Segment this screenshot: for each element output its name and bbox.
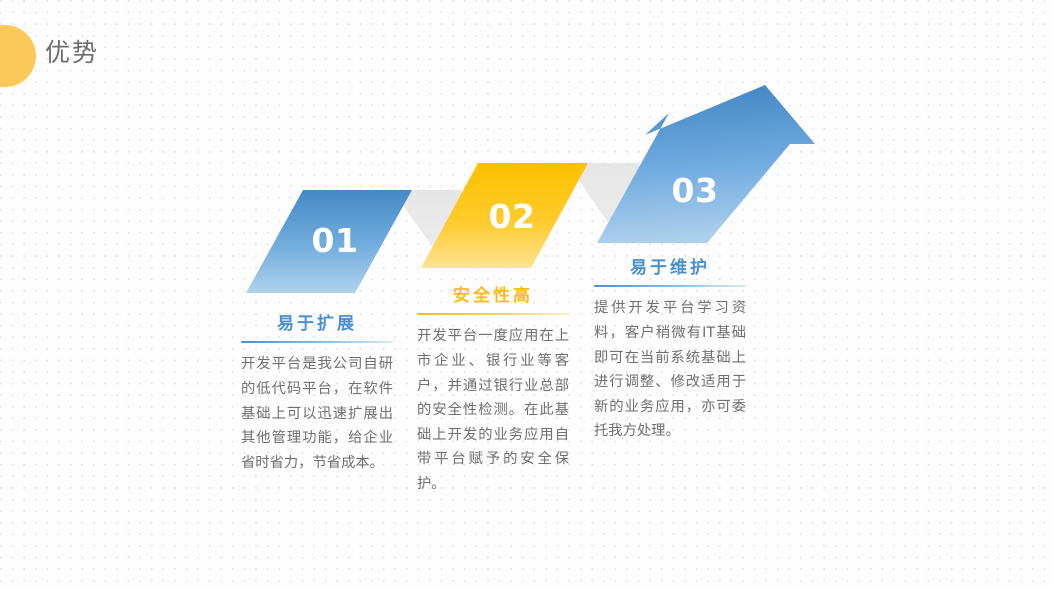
step-body-02: 开发平台一度应用在上市企业、银行业等客户，并通过银行业总部的安全性检测。在此基础… bbox=[417, 324, 569, 496]
step-text-column-01: 易于扩展 开发平台是我公司自研的低代码平台，在软件基础上可以迅速扩展出其他管理功… bbox=[241, 314, 393, 475]
step-text-column-03: 易于维护 提供开发平台学习资料，客户稍微有IT基础即可在当前系统基础上进行调整、… bbox=[594, 258, 746, 444]
step-heading-01: 易于扩展 bbox=[241, 314, 393, 334]
step-body-03: 提供开发平台学习资料，客户稍微有IT基础即可在当前系统基础上进行调整、修改适用于… bbox=[594, 296, 746, 443]
step-heading-rule-02 bbox=[417, 313, 569, 315]
step-text-column-02: 安全性高 开发平台一度应用在上市企业、银行业等客户，并通过银行业总部的安全性检测… bbox=[417, 286, 569, 496]
step-body-01: 开发平台是我公司自研的低代码平台，在软件基础上可以迅速扩展出其他管理功能，给企业… bbox=[241, 352, 393, 475]
step-heading-rule-01 bbox=[241, 341, 393, 343]
step-number-01: 01 bbox=[312, 221, 359, 260]
step-heading-03: 易于维护 bbox=[594, 258, 746, 278]
step-heading-02: 安全性高 bbox=[417, 286, 569, 306]
step-number-02: 02 bbox=[489, 197, 536, 236]
step-number-03: 03 bbox=[672, 171, 719, 210]
step-heading-rule-03 bbox=[594, 285, 746, 287]
